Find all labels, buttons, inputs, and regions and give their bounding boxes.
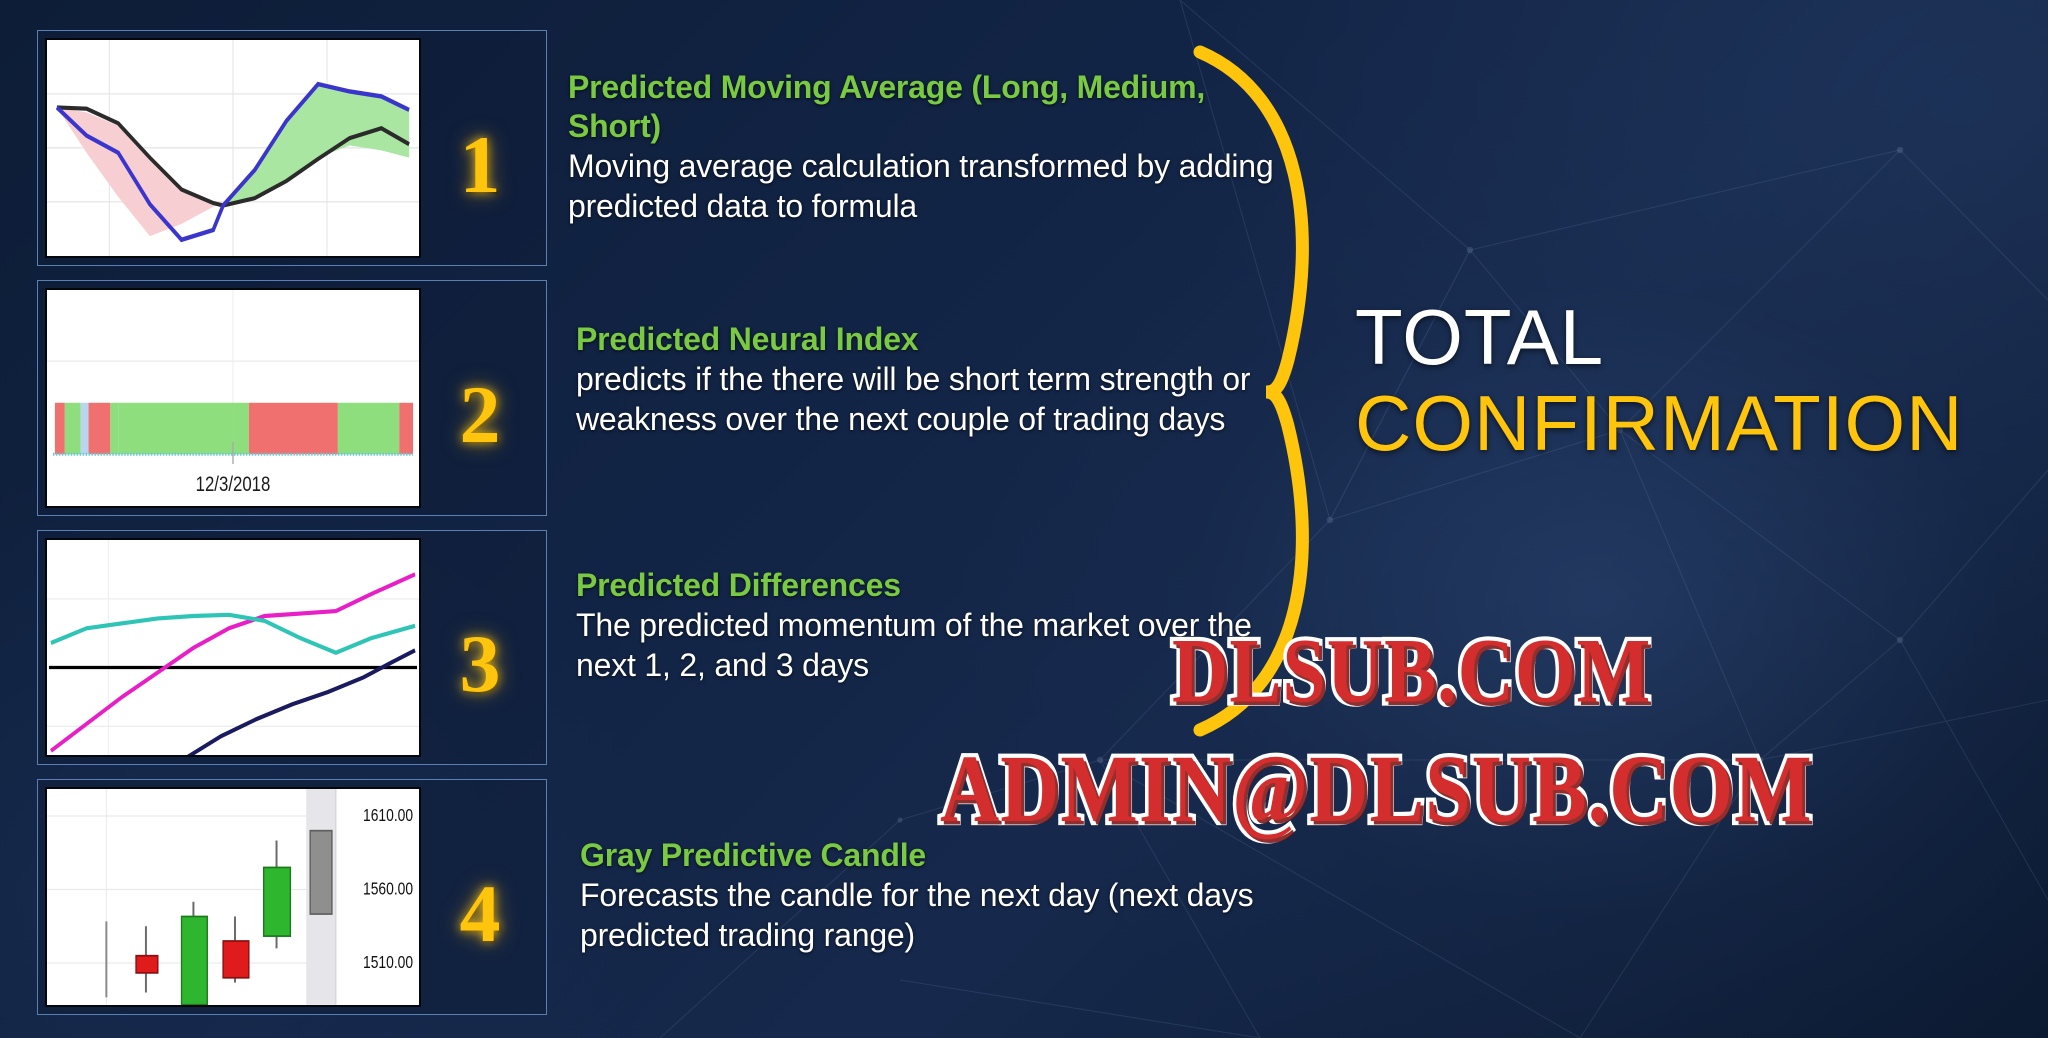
step-number-4: 4 <box>421 839 539 955</box>
headline-line-2: CONFIRMATION <box>1355 375 2045 473</box>
watermark-contact-email: ADMIN@DLSUB.COM <box>940 734 1813 845</box>
panel-predicted-neural-index[interactable]: 12/3/2018 2 <box>37 280 547 516</box>
price-label-low: 1510.00 <box>363 954 413 973</box>
panel-predicted-differences[interactable]: 3 <box>37 530 547 766</box>
date-axis-label: 12/3/2018 <box>196 473 271 496</box>
watermark-site-url: DLSUB.COM <box>1172 618 1651 724</box>
neural-index-bars <box>55 403 413 454</box>
gray-predictive-candle-chart: 1610.00 1560.00 1510.00 <box>45 787 421 1007</box>
headline-line-1: TOTAL <box>1355 300 2045 375</box>
chart-panel-column: 1 <box>37 30 547 1015</box>
gray-predicted-candle <box>310 831 332 914</box>
price-label-mid: 1560.00 <box>363 880 413 899</box>
panel-predicted-moving-average[interactable]: 1 <box>37 30 547 266</box>
feature-body-4: Forecasts the candle for the next day (n… <box>580 875 1300 955</box>
step-number-1: 1 <box>421 90 539 206</box>
predicted-moving-average-chart <box>45 38 421 258</box>
step-number-3: 3 <box>421 589 539 705</box>
description-block-4: Gray Predictive Candle Forecasts the can… <box>580 836 1300 955</box>
price-label-high: 1610.00 <box>363 807 413 826</box>
predicted-neural-index-chart: 12/3/2018 <box>45 288 421 508</box>
panel-gray-predictive-candle[interactable]: 1610.00 1560.00 1510.00 4 <box>37 779 547 1015</box>
headline: TOTAL CONFIRMATION <box>1355 300 2045 472</box>
step-number-2: 2 <box>421 340 539 456</box>
predicted-differences-chart <box>45 538 421 758</box>
